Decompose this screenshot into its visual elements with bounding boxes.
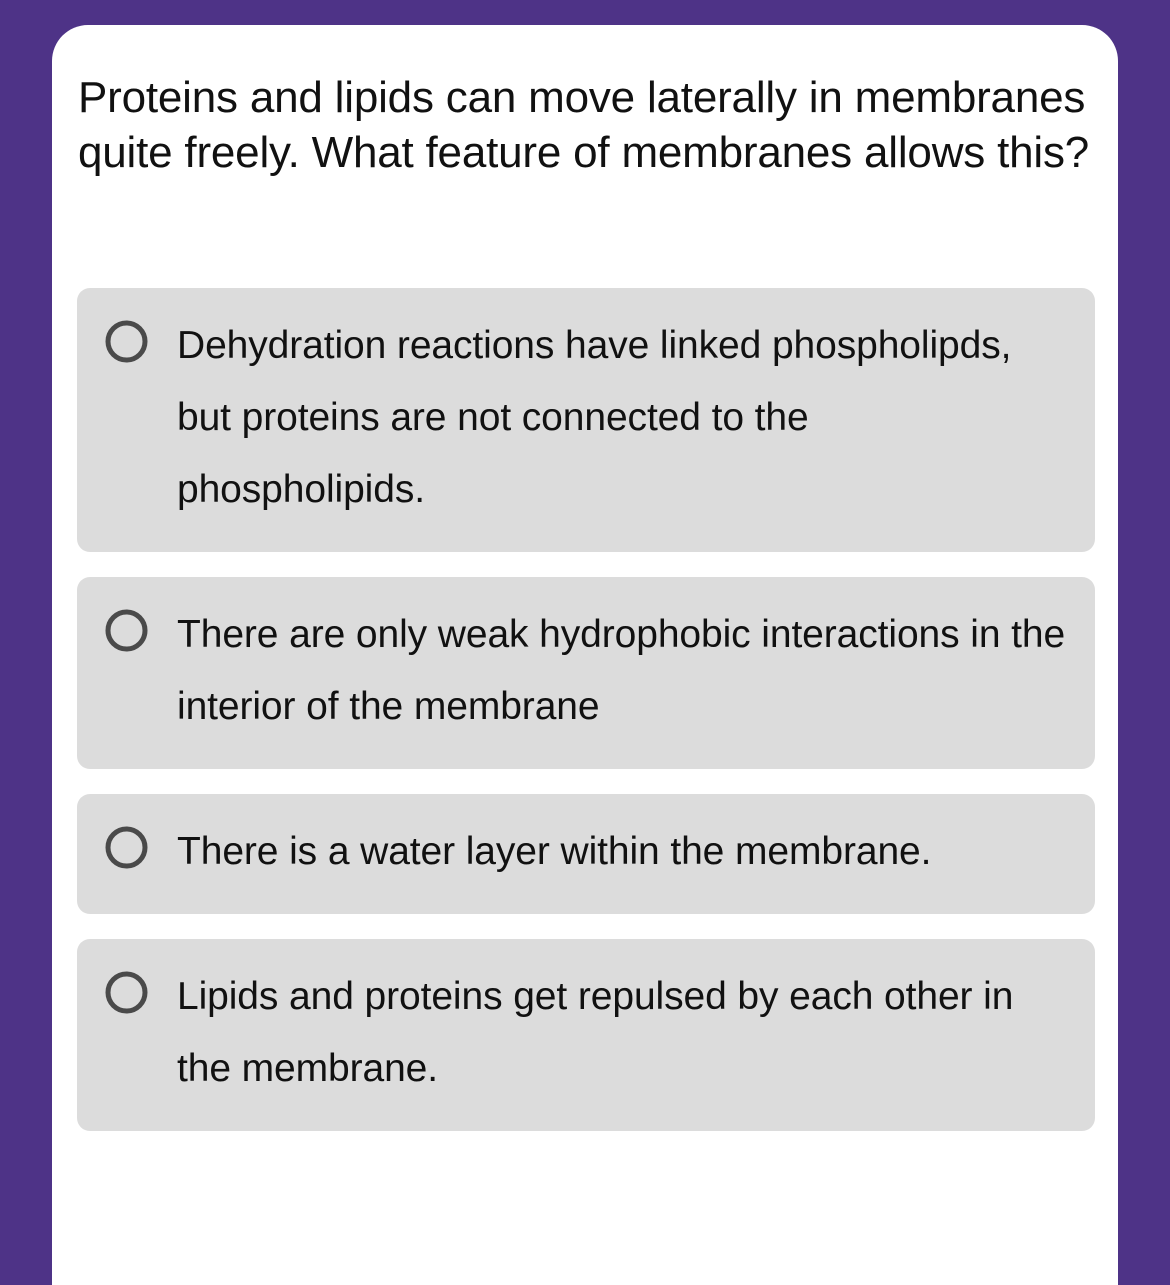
quiz-screen: Proteins and lipids can move laterally i… [0, 0, 1170, 1251]
radio-unchecked-icon[interactable] [105, 609, 148, 652]
radio-unchecked-icon[interactable] [105, 320, 148, 363]
answer-option-c[interactable]: There is a water layer within the membra… [77, 794, 1095, 914]
answer-option-b[interactable]: There are only weak hydrophobic interact… [77, 577, 1095, 769]
answer-option-d[interactable]: Lipids and proteins get repulsed by each… [77, 939, 1095, 1131]
question-card: Proteins and lipids can move laterally i… [52, 25, 1118, 1285]
answer-option-label: Dehydration reactions have linked phosph… [177, 310, 1067, 526]
answer-options-list: Dehydration reactions have linked phosph… [77, 288, 1095, 1156]
answer-option-label: Lipids and proteins get repulsed by each… [177, 961, 1067, 1105]
answer-option-label: There are only weak hydrophobic interact… [177, 599, 1067, 743]
question-prompt: Proteins and lipids can move laterally i… [78, 70, 1093, 180]
radio-unchecked-icon[interactable] [105, 971, 148, 1014]
answer-option-a[interactable]: Dehydration reactions have linked phosph… [77, 288, 1095, 552]
radio-unchecked-icon[interactable] [105, 826, 148, 869]
answer-option-label: There is a water layer within the membra… [177, 816, 1067, 888]
